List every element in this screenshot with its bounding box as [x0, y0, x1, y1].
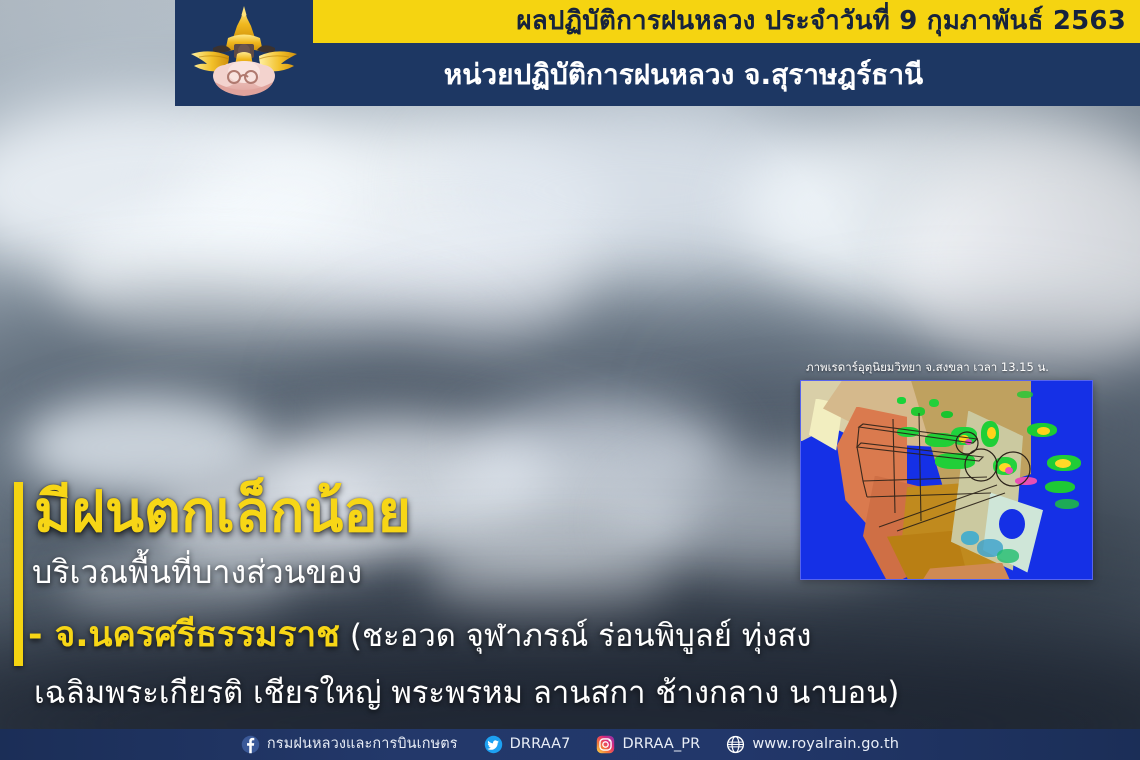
- social-footer-bar: กรมฝนหลวงและการบินเกษตร DRRAA7: [0, 729, 1140, 760]
- header-title-yellow-band: ผลปฏิบัติการฝนหลวง ประจำวันที่ 9 กุมภาพั…: [313, 0, 1140, 43]
- instagram-icon: [596, 735, 615, 754]
- royal-rainmaking-garuda-emblem: [185, 4, 303, 102]
- website-label: www.royalrain.go.th: [752, 737, 899, 752]
- operations-unit-title: หน่วยปฏิบัติการฝนหลวง จ.สุราษฎร์ธานี: [444, 61, 923, 89]
- headline-accent-bar: [14, 482, 23, 666]
- radar-caption: ภาพเรดาร์อุตุนิยมวิทยา จ.สงขลา เวลา 13.1…: [796, 362, 1098, 374]
- header-subtitle-row: หน่วยปฏิบัติการฝนหลวง จ.สุราษฎร์ธานี: [313, 43, 1140, 106]
- headline-main: มีฝนตกเล็กน้อย: [34, 484, 411, 541]
- footer-item-instagram[interactable]: DRRAA_PR: [596, 735, 700, 754]
- twitter-label: DRRAA7: [510, 737, 571, 752]
- province-line-1: - จ.นครศรีธรรมราช (ชะอวด จุฬาภรณ์ ร่อนพิ…: [28, 618, 811, 653]
- facebook-icon: [241, 735, 260, 754]
- radar-image: [800, 380, 1093, 580]
- header-banner: ผลปฏิบัติการฝนหลวง ประจำวันที่ 9 กุมภาพั…: [175, 0, 1140, 106]
- district-list-line-1: (ชะอวด จุฬาภรณ์ ร่อนพิบูลย์ ทุ่งสง: [350, 621, 811, 652]
- province-name: - จ.นครศรีธรรมราช: [28, 618, 340, 653]
- footer-item-facebook[interactable]: กรมฝนหลวงและการบินเกษตร: [241, 735, 458, 754]
- globe-icon: [726, 735, 745, 754]
- facebook-label: กรมฝนหลวงและการบินเกษตร: [267, 737, 458, 752]
- infographic-canvas: ผลปฏิบัติการฝนหลวง ประจำวันที่ 9 กุมภาพั…: [0, 0, 1140, 760]
- district-list-line-2: เฉลิมพระเกียรติ เชียรใหญ่ พระพรหม ลานสกา…: [34, 678, 899, 709]
- radar-inset: ภาพเรดาร์อุตุนิยมวิทยา จ.สงขลา เวลา 13.1…: [796, 362, 1098, 594]
- report-date-title: ผลปฏิบัติการฝนหลวง ประจำวันที่ 9 กุมภาพั…: [516, 8, 1126, 34]
- twitter-icon: [484, 735, 503, 754]
- footer-item-twitter[interactable]: DRRAA7: [484, 735, 571, 754]
- headline-subtitle: บริเวณพื้นที่บางส่วนของ: [32, 556, 362, 588]
- instagram-label: DRRAA_PR: [622, 737, 700, 752]
- footer-item-website[interactable]: www.royalrain.go.th: [726, 735, 899, 754]
